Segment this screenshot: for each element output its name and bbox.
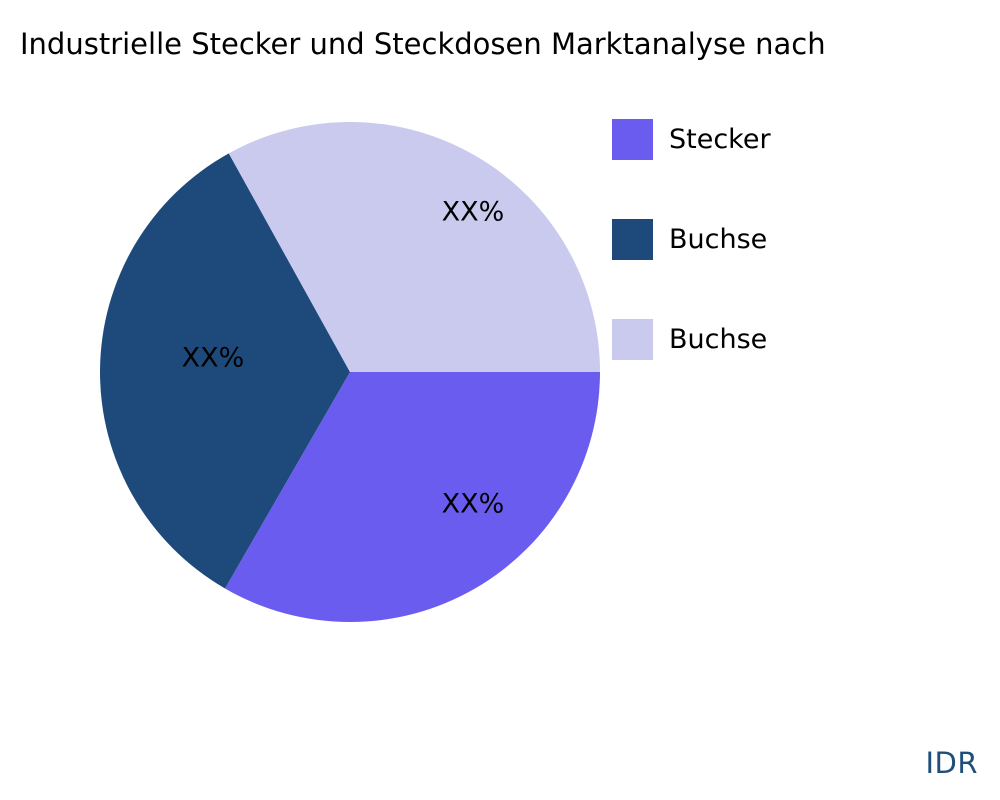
legend-label-buchse-2: Buchse [669,326,767,353]
pie-chart: XX% XX% XX% [100,122,600,622]
pie-slices [100,122,600,622]
chart-title: Industrielle Stecker und Steckdosen Mark… [20,26,1000,62]
legend-label-stecker: Stecker [669,126,771,153]
chart-canvas: Industrielle Stecker und Steckdosen Mark… [0,0,1000,800]
pie-label-left: XX% [182,343,245,374]
legend-swatch-icon [612,319,653,360]
pie-svg: XX% XX% XX% [100,122,600,622]
legend-item-stecker[interactable]: Stecker [612,118,771,160]
legend-item-buchse-1[interactable]: Buchse [612,218,767,260]
legend-item-buchse-2[interactable]: Buchse [612,318,767,360]
pie-label-bottom-right: XX% [442,489,505,520]
legend-label-buchse-1: Buchse [669,226,767,253]
legend-swatch-icon [612,219,653,260]
legend-swatch-icon [612,119,653,160]
pie-label-top-right: XX% [442,197,505,228]
watermark-idr: IDR [925,746,978,780]
